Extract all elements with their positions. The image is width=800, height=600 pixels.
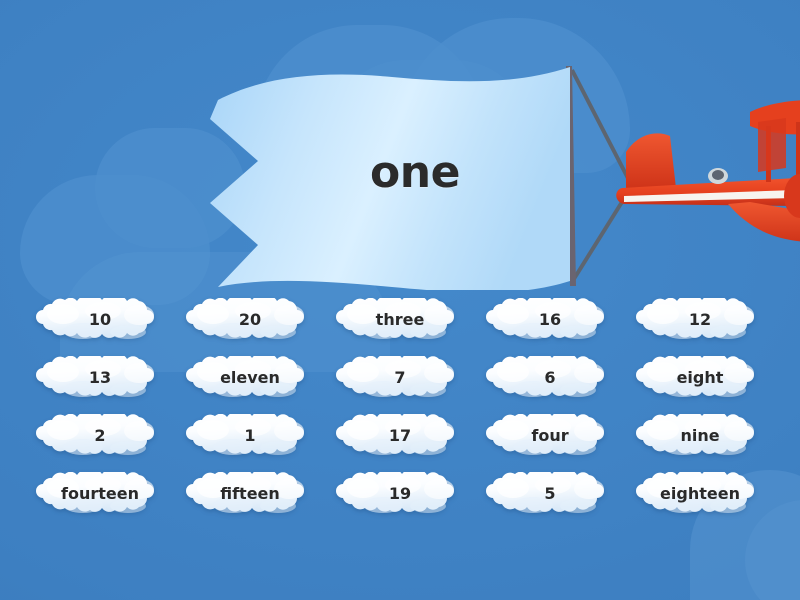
answer-card[interactable]: 5 <box>483 472 617 515</box>
answer-card-label: 10 <box>89 310 111 329</box>
answer-card-label: 13 <box>89 368 111 387</box>
answer-card-label: 1 <box>244 426 255 445</box>
game-stage: one <box>0 0 800 600</box>
answer-card[interactable]: 10 <box>33 298 167 341</box>
answer-card-label: nine <box>680 426 719 445</box>
answer-card-label: 5 <box>544 484 555 503</box>
answer-card[interactable]: 7 <box>333 356 467 399</box>
answer-card-label: 7 <box>394 368 405 387</box>
answer-card-label: 12 <box>689 310 711 329</box>
answer-card[interactable]: eleven <box>183 356 317 399</box>
answer-card-label: 2 <box>94 426 105 445</box>
answer-card[interactable]: 1 <box>183 414 317 457</box>
answer-card[interactable]: fourteen <box>33 472 167 515</box>
answer-card[interactable]: three <box>333 298 467 341</box>
answer-card-label: eighteen <box>660 484 740 503</box>
answer-card[interactable]: 2 <box>33 414 167 457</box>
answer-card[interactable]: eight <box>633 356 767 399</box>
answer-card[interactable]: fifteen <box>183 472 317 515</box>
answer-card[interactable]: 19 <box>333 472 467 515</box>
answer-card-label: 16 <box>539 310 561 329</box>
answer-card-label: 19 <box>389 484 411 503</box>
banner: one <box>196 55 576 290</box>
answer-card-label: 6 <box>544 368 555 387</box>
banner-prompt-word: one <box>196 55 576 290</box>
answer-card[interactable]: 12 <box>633 298 767 341</box>
answer-card[interactable]: nine <box>633 414 767 457</box>
answer-card-label: eight <box>677 368 724 387</box>
answer-card-label: 20 <box>239 310 261 329</box>
answer-card[interactable]: 16 <box>483 298 617 341</box>
answer-card-label: fifteen <box>220 484 280 503</box>
answer-card[interactable]: 20 <box>183 298 317 341</box>
answer-card[interactable]: 6 <box>483 356 617 399</box>
answer-card-label: 17 <box>389 426 411 445</box>
answer-card[interactable]: eighteen <box>633 472 767 515</box>
answer-card[interactable]: 17 <box>333 414 467 457</box>
answer-card-label: fourteen <box>61 484 139 503</box>
answer-card[interactable]: 13 <box>33 356 167 399</box>
airplane-icon <box>600 92 800 244</box>
answer-card-label: eleven <box>220 368 280 387</box>
answer-card-label: four <box>531 426 568 445</box>
answer-card[interactable]: four <box>483 414 617 457</box>
answer-card-label: three <box>376 310 425 329</box>
answer-grid: 1020three161213eleven76eight2117fournine… <box>33 298 769 515</box>
